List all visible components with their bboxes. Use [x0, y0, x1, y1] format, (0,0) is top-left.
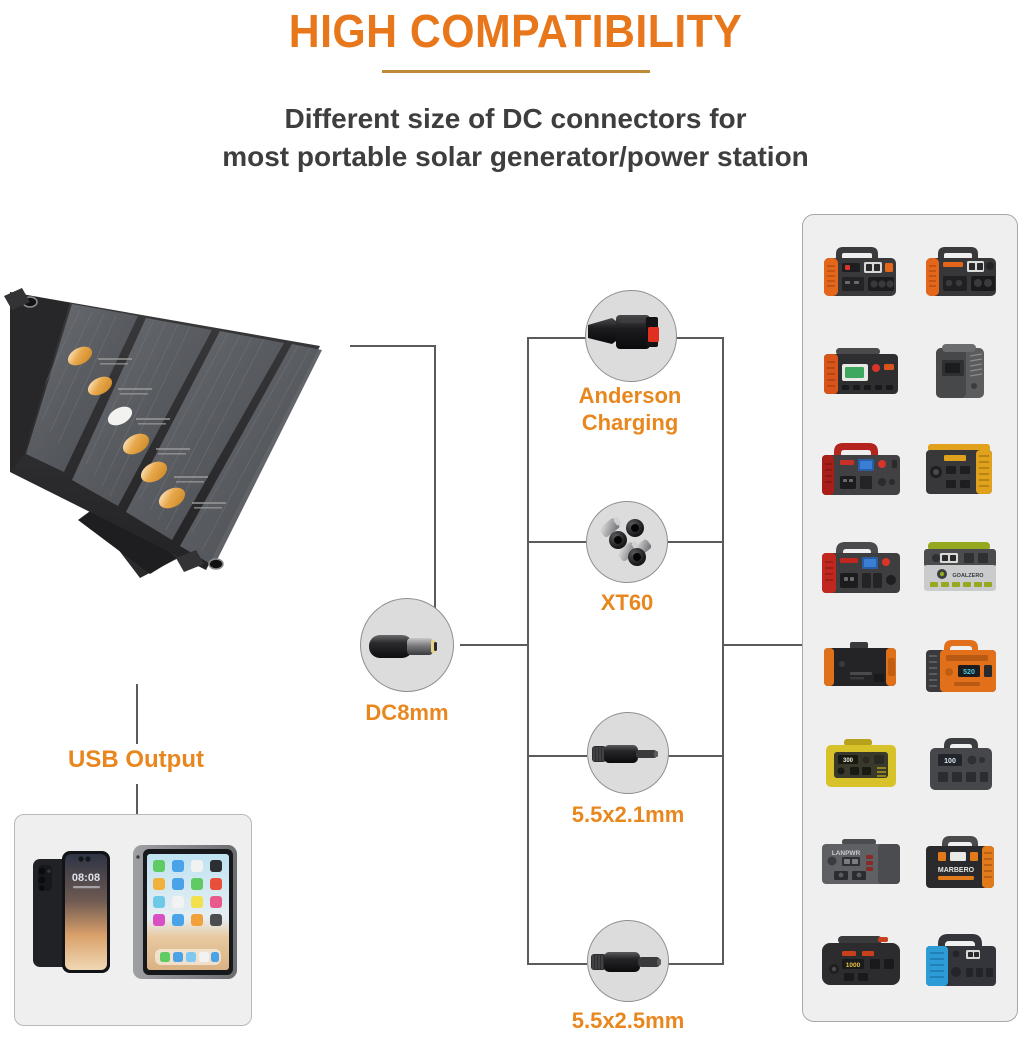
power-station-red-handle-icon	[812, 438, 908, 504]
power-station-black-rounded-icon: 1000	[812, 931, 908, 991]
connector-badge-dc8mm[interactable]	[360, 598, 454, 692]
subtitle-line-1: Different size of DC connectors for	[0, 100, 1031, 138]
subtitle-line-2: most portable solar generator/power stat…	[0, 138, 1031, 176]
device-cell-15[interactable]: 1000	[811, 913, 909, 1009]
power-station-gray-wide-icon: LANPWR	[812, 833, 908, 893]
power-station-dark-gray-icon: 100	[916, 734, 1004, 796]
dc-barrel-plug-icon	[361, 599, 454, 692]
device-cell-11[interactable]: 300	[811, 717, 909, 813]
connector-label-anderson-line1: Anderson	[579, 383, 682, 408]
connector-badge-anderson[interactable]	[585, 290, 677, 382]
device-cell-12[interactable]: 100	[911, 717, 1009, 813]
solar-panel-illustration	[0, 258, 330, 588]
page-title: HIGH COMPATIBILITY	[36, 4, 995, 58]
power-station-marbero-icon: MARBERO	[914, 832, 1006, 894]
power-station-orange-black-2-icon	[914, 242, 1006, 308]
connector-label-55x25: 5.5x2.5mm	[517, 1008, 739, 1034]
svg-text:GOALZERO: GOALZERO	[952, 573, 984, 579]
title-divider	[382, 70, 650, 73]
svg-text:08:08: 08:08	[72, 872, 100, 884]
device-cell-4[interactable]	[911, 325, 1009, 421]
usb-output-devices-panel: 08:08	[14, 814, 252, 1026]
connector-badge-xt60[interactable]	[586, 501, 668, 583]
line-panel-to-dc8mm-vertical	[434, 345, 436, 627]
device-cell-8[interactable]: GOALZERO	[911, 521, 1009, 617]
power-station-goal-zero-icon: GOALZERO	[912, 537, 1008, 601]
bracket-left-stub-55x21	[527, 755, 587, 757]
smartphone-icon: 08:08	[33, 851, 110, 973]
dc-barrel-plug-icon	[588, 921, 669, 1002]
xt60-bullet-connector-icon	[587, 502, 668, 583]
svg-text:1000: 1000	[846, 962, 861, 969]
svg-text:300: 300	[843, 758, 854, 764]
device-cell-10[interactable]: 520	[911, 619, 1009, 715]
dc-barrel-plug-icon	[588, 713, 669, 794]
power-station-red-side-icon	[812, 537, 908, 601]
connector-label-dc8mm: DC8mm	[300, 700, 514, 726]
power-station-orange-black-icon	[814, 242, 906, 308]
line-panel-to-dc8mm-horizontal	[350, 345, 436, 347]
line-usb-lower	[136, 784, 138, 814]
device-cell-1[interactable]	[811, 227, 909, 323]
infographic-root: HIGH COMPATIBILITY Different size of DC …	[0, 0, 1031, 1040]
page-subtitle: Different size of DC connectors for most…	[0, 100, 1031, 176]
power-station-orange-display-icon	[814, 342, 906, 404]
line-bracket-to-devices	[722, 644, 802, 646]
foldable-solar-panel	[0, 258, 330, 593]
bracket-left-stub-xt60	[527, 541, 587, 543]
usb-output-label: USB Output	[36, 747, 236, 773]
connector-label-55x21: 5.5x2.1mm	[517, 802, 739, 828]
line-usb-upper	[136, 684, 138, 744]
device-cell-13[interactable]: LANPWR	[811, 815, 909, 911]
device-cell-5[interactable]	[811, 423, 909, 519]
device-cell-14[interactable]: MARBERO	[911, 815, 1009, 911]
device-cell-2[interactable]	[911, 227, 1009, 323]
svg-text:520: 520	[963, 669, 975, 676]
tablet-icon	[133, 845, 237, 979]
device-cell-6[interactable]	[911, 423, 1009, 519]
svg-text:100: 100	[944, 758, 956, 765]
svg-text:MARBERO: MARBERO	[938, 867, 975, 874]
bracket-right-stub-55x25	[666, 963, 724, 965]
device-cell-9[interactable]	[811, 619, 909, 715]
compatible-devices-grid: GOALZERO	[811, 227, 1009, 1009]
connector-badge-55x21[interactable]	[587, 712, 669, 794]
usb-devices-illustration: 08:08	[15, 815, 251, 1025]
device-cell-16[interactable]	[911, 913, 1009, 1009]
bracket-left-stub-55x25	[527, 963, 587, 965]
bracket-left-stub-anderson	[527, 337, 587, 339]
power-station-yellow-icon: 300	[814, 734, 906, 796]
power-station-blue-vent-icon	[914, 930, 1006, 992]
bracket-right-stub-55x21	[666, 755, 724, 757]
device-cell-7[interactable]	[811, 521, 909, 617]
anderson-powerpole-connector-icon	[586, 291, 677, 382]
connector-badge-55x25[interactable]	[587, 920, 669, 1002]
power-station-gray-slim-icon	[918, 340, 1002, 406]
connector-label-anderson-line2: Charging	[582, 410, 679, 435]
bracket-left-spine	[527, 337, 529, 965]
line-dc8mm-to-bracket	[460, 644, 528, 646]
power-station-orange-face-icon: 520	[914, 636, 1006, 698]
device-cell-3[interactable]	[811, 325, 909, 421]
svg-text:LANPWR: LANPWR	[832, 850, 861, 857]
connector-label-xt60: XT60	[527, 590, 727, 616]
power-station-black-orange-trim-icon	[812, 638, 908, 696]
connector-label-anderson: Anderson Charging	[530, 382, 730, 436]
bracket-right-stub-xt60	[666, 541, 724, 543]
hang-hole-bottom-icon	[209, 559, 223, 569]
compatible-devices-panel: GOALZERO	[802, 214, 1018, 1022]
power-station-yellow-frame-icon	[914, 438, 1006, 504]
